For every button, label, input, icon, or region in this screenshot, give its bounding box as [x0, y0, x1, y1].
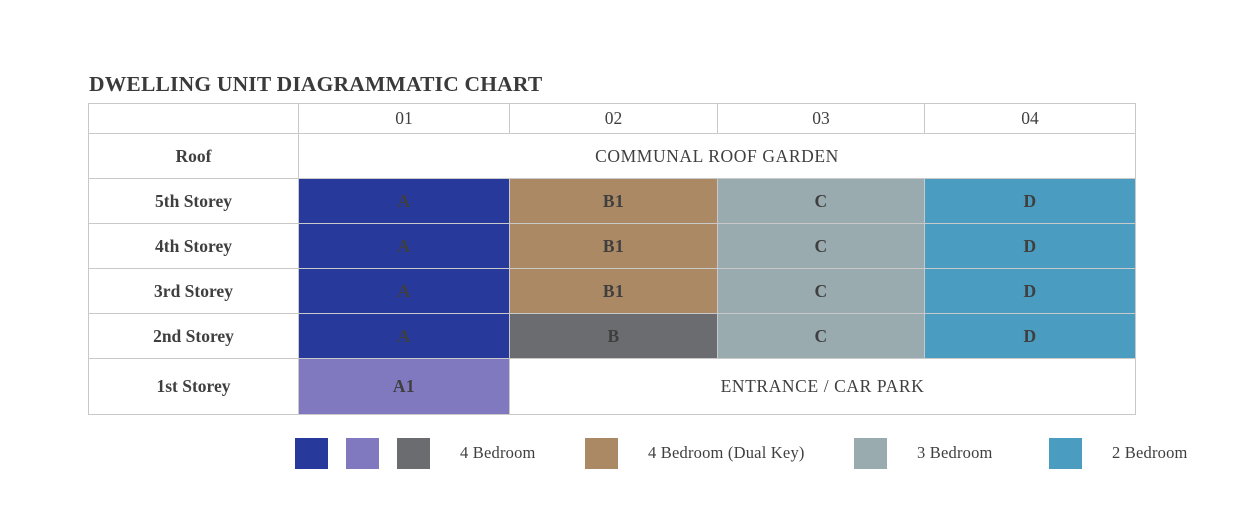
- unit-cell-a: A: [299, 314, 510, 359]
- table-row: 1st StoreyA1ENTRANCE / CAR PARK: [89, 359, 1136, 415]
- legend-item: 4 Bedroom: [295, 436, 536, 470]
- row-label-4th-storey: 4th Storey: [89, 224, 299, 269]
- table-row: 3rd StoreyAB1CD: [89, 269, 1136, 314]
- legend-label: 3 Bedroom: [917, 443, 993, 463]
- legend-item: 4 Bedroom (Dual Key): [585, 436, 805, 470]
- unit-cell-d: D: [925, 179, 1136, 224]
- area-label-communal-roof-garden: COMMUNAL ROOF GARDEN: [299, 134, 1136, 179]
- row-label-1st-storey: 1st Storey: [89, 359, 299, 415]
- dwelling-unit-diagrammatic-chart: DWELLING UNIT DIAGRAMMATIC CHART 0102030…: [0, 0, 1240, 525]
- unit-cell-a: A: [299, 269, 510, 314]
- legend-swatch: [854, 438, 887, 469]
- page-title: DWELLING UNIT DIAGRAMMATIC CHART: [89, 72, 542, 97]
- row-label-2nd-storey: 2nd Storey: [89, 314, 299, 359]
- legend-swatch: [295, 438, 328, 469]
- unit-cell-b1: B1: [510, 269, 718, 314]
- unit-cell-c: C: [718, 179, 925, 224]
- unit-cell-c: C: [718, 224, 925, 269]
- table-row: RoofCOMMUNAL ROOF GARDEN: [89, 134, 1136, 179]
- legend-label: 4 Bedroom: [460, 443, 536, 463]
- legend-label: 2 Bedroom: [1112, 443, 1188, 463]
- table-row: 5th StoreyAB1CD: [89, 179, 1136, 224]
- table-header-corner: [89, 104, 299, 134]
- unit-cell-a: A: [299, 224, 510, 269]
- legend-item: 3 Bedroom: [854, 436, 993, 470]
- dwelling-unit-table: 01020304RoofCOMMUNAL ROOF GARDEN5th Stor…: [88, 103, 1136, 415]
- unit-cell-d: D: [925, 224, 1136, 269]
- legend-item: 2 Bedroom: [1049, 436, 1188, 470]
- unit-cell-b: B: [510, 314, 718, 359]
- column-header-04: 04: [925, 104, 1136, 134]
- legend-swatch: [585, 438, 618, 469]
- row-label-3rd-storey: 3rd Storey: [89, 269, 299, 314]
- table-row: 4th StoreyAB1CD: [89, 224, 1136, 269]
- row-label-roof: Roof: [89, 134, 299, 179]
- legend: 4 Bedroom4 Bedroom (Dual Key)3 Bedroom2 …: [88, 436, 1135, 470]
- column-header-01: 01: [299, 104, 510, 134]
- unit-cell-a1: A1: [299, 359, 510, 415]
- column-header-02: 02: [510, 104, 718, 134]
- table-header-row: 01020304: [89, 104, 1136, 134]
- area-label-entrance-car-park: ENTRANCE / CAR PARK: [510, 359, 1136, 415]
- legend-swatch: [346, 438, 379, 469]
- unit-cell-a: A: [299, 179, 510, 224]
- table-row: 2nd StoreyABCD: [89, 314, 1136, 359]
- legend-swatch: [1049, 438, 1082, 469]
- unit-cell-b1: B1: [510, 224, 718, 269]
- column-header-03: 03: [718, 104, 925, 134]
- unit-cell-b1: B1: [510, 179, 718, 224]
- legend-swatch: [397, 438, 430, 469]
- unit-cell-d: D: [925, 269, 1136, 314]
- unit-cell-c: C: [718, 269, 925, 314]
- unit-cell-c: C: [718, 314, 925, 359]
- unit-cell-d: D: [925, 314, 1136, 359]
- legend-label: 4 Bedroom (Dual Key): [648, 443, 805, 463]
- row-label-5th-storey: 5th Storey: [89, 179, 299, 224]
